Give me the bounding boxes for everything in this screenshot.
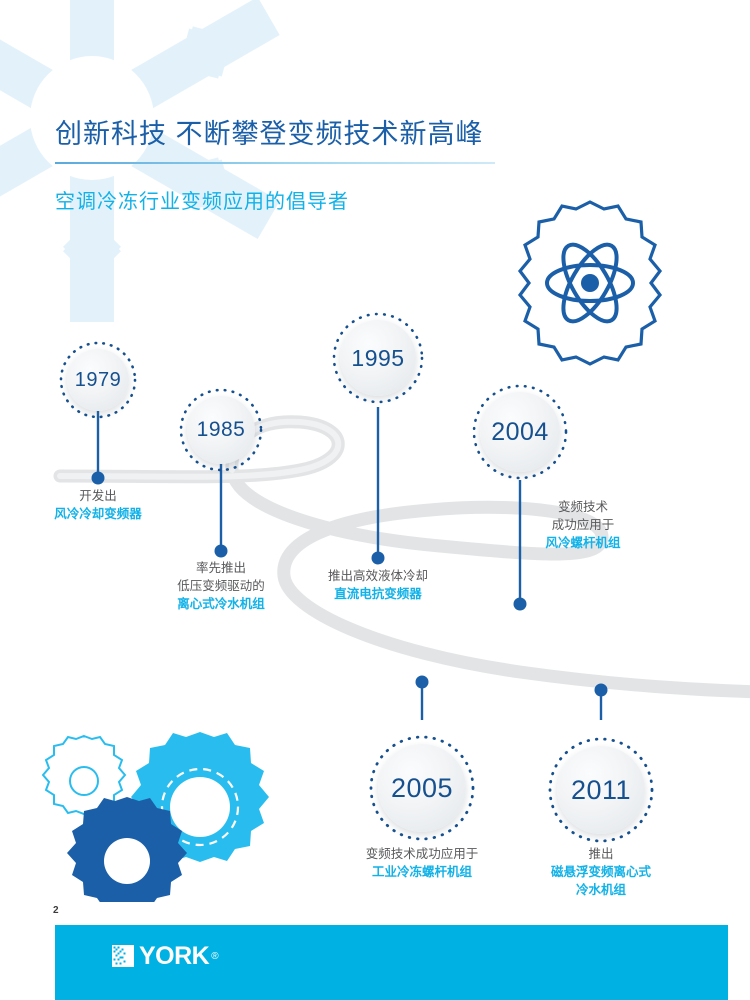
milestone-bubble-1979[interactable]: 1979 [59,341,137,419]
milestone-caption-2011: 推出 磁悬浮变频离心式 冷水机组 [551,846,651,899]
trademark-symbol: ® [211,951,218,962]
caption-highlight: 风冷冷却变频器 [54,506,142,524]
caption-highlight: 直流电抗变频器 [328,586,428,604]
timeline-dot [92,472,105,485]
caption-line: 成功应用于 [545,517,620,535]
timeline-dot [215,545,228,558]
milestone-caption-2004: 变频技术 成功应用于 风冷螺杆机组 [545,499,620,552]
caption-line: 推出 [551,846,651,864]
timeline-dot [595,684,608,697]
caption-line: 率先推出 [177,560,265,578]
milestone-caption-1995: 推出高效液体冷却 直流电抗变频器 [328,568,428,604]
milestone-bubble-2011[interactable]: 2011 [548,737,654,843]
milestone-year: 2005 [391,773,453,804]
milestone-year: 1985 [197,418,246,442]
york-wordmark: YORK [139,942,209,971]
milestone-caption-1985: 率先推出 低压变频驱动的 离心式冷水机组 [177,560,265,613]
caption-line: 低压变频驱动的 [177,578,265,596]
caption-highlight: 工业冷冻螺杆机组 [366,864,479,882]
milestone-bubble-2004[interactable]: 2004 [472,384,568,480]
timeline-dot [416,676,429,689]
milestone-bubble-2005[interactable]: 2005 [369,735,475,841]
title-divider [55,162,495,164]
milestone-caption-2005: 变频技术成功应用于 工业冷冻螺杆机组 [366,846,479,882]
timeline-dot [514,598,527,611]
timeline-dot [372,552,385,565]
caption-line: 开发出 [54,488,142,506]
caption-highlight: 离心式冷水机组 [177,596,265,614]
caption-highlight: 磁悬浮变频离心式 [551,864,651,882]
milestone-year: 2004 [491,418,549,447]
york-logo: YORK ® [112,943,219,969]
page-number: 2 [53,905,59,916]
caption-highlight-2: 冷水机组 [551,882,651,900]
milestone-bubble-1995[interactable]: 1995 [332,312,424,404]
caption-line: 变频技术 [545,499,620,517]
slide-page: 创新科技 不断攀登变频技术新高峰 空调冷冻行业变频应用的倡导者 [0,0,750,1000]
milestone-year: 1995 [351,345,404,372]
milestone-year: 2011 [571,775,631,806]
milestone-bubble-1985[interactable]: 1985 [179,388,263,472]
page-title: 创新科技 不断攀登变频技术新高峰 [55,118,695,152]
footer-brand-bar: YORK ® [55,925,728,1000]
milestone-year: 1979 [75,369,122,392]
york-logo-icon [112,945,134,967]
gear-cluster-icon [42,722,292,902]
caption-line: 推出高效液体冷却 [328,568,428,586]
milestone-caption-1979: 开发出 风冷冷却变频器 [54,488,142,524]
caption-line: 变频技术成功应用于 [366,846,479,864]
caption-highlight: 风冷螺杆机组 [545,535,620,553]
